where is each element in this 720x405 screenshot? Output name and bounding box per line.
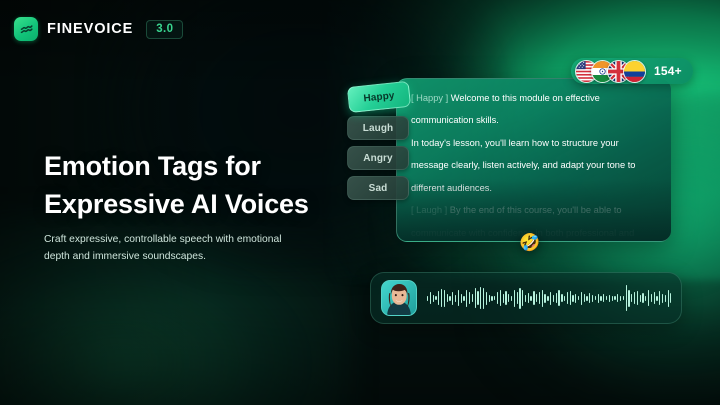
- waveform-bar: [463, 296, 464, 301]
- waveform-bar: [567, 292, 568, 304]
- waveform-bar: [595, 296, 596, 300]
- waveform-bar: [525, 295, 526, 302]
- waveform-bar: [651, 294, 652, 302]
- languages-count: 154+: [654, 64, 682, 78]
- waveform-bar: [503, 294, 504, 303]
- waveform-bar: [572, 295, 573, 302]
- waveform-bar: [542, 290, 543, 307]
- waveform-bar: [668, 290, 669, 307]
- waveform-bar: [486, 292, 487, 305]
- waveform-bar: [519, 288, 520, 309]
- waveform-bar: [472, 294, 473, 302]
- emotion-tag-happy[interactable]: Happy: [347, 81, 411, 113]
- waveform-bar: [438, 291, 439, 305]
- transcript-line: communication skills.: [411, 114, 657, 126]
- emotion-tag-label: Happy: [363, 90, 395, 104]
- brand-name: FINEVOICE: [47, 21, 133, 37]
- emotion-tag-label: Angry: [363, 153, 392, 164]
- flag-stack: [571, 60, 646, 83]
- waveform-bar: [494, 296, 495, 300]
- transcript-line: [ Happy ] Welcome to this module on effe…: [411, 92, 657, 104]
- waveform-bar: [623, 296, 624, 300]
- waveform-bar: [654, 292, 655, 304]
- waveform-bar: [528, 293, 529, 303]
- waveform-bar: [469, 292, 470, 304]
- waveform-bar: [547, 296, 548, 301]
- waveform-bar: [483, 288, 484, 309]
- waveform-bar: [491, 296, 492, 301]
- waveform-bar: [461, 294, 462, 303]
- finevoice-wave-logo-icon: [14, 17, 38, 41]
- waveform-bar: [612, 296, 613, 301]
- waveform-bar: [533, 291, 534, 305]
- waveform-bar: [592, 295, 593, 302]
- waveform-bar: [489, 295, 490, 302]
- laughing-emoji-icon: 🤣: [518, 230, 542, 254]
- transcript-line: different audiences.: [411, 182, 657, 194]
- waveform-bar: [575, 294, 576, 303]
- waveform-bar: [497, 292, 498, 304]
- waveform-bar: [449, 296, 450, 301]
- waveform-bar: [645, 296, 646, 301]
- emotion-tag-label: Sad: [369, 183, 388, 194]
- waveform-bar: [578, 296, 579, 300]
- transcript-line: In today's lesson, you'll learn how to s…: [411, 137, 657, 149]
- transcript-emotion-tag: [ Laugh ]: [411, 205, 447, 215]
- waveform-bar: [637, 291, 638, 305]
- speaker-avatar: [381, 280, 417, 316]
- audio-waveform[interactable]: [427, 283, 671, 313]
- waveform-bar: [631, 294, 632, 302]
- transcript-text: In today's lesson, you'll learn how to s…: [411, 138, 619, 148]
- emotion-tag-sad[interactable]: Sad: [347, 176, 409, 200]
- waveform-bar: [665, 295, 666, 302]
- waveform-bar: [539, 292, 540, 304]
- waveform-bar: [435, 296, 436, 300]
- waveform-bar: [589, 293, 590, 303]
- transcript-card[interactable]: [ Happy ] Welcome to this module on effe…: [396, 78, 671, 242]
- emotion-tag-label: Laugh: [363, 123, 394, 134]
- waveform-bar: [427, 296, 428, 301]
- hero-subcopy: Craft expressive, controllable speech wi…: [44, 232, 306, 265]
- waveform-bar: [586, 296, 587, 301]
- audio-player-card[interactable]: [370, 272, 682, 324]
- waveform-bar: [656, 296, 657, 301]
- version-badge: 3.0: [146, 20, 183, 39]
- transcript-text: communication skills.: [411, 115, 499, 125]
- waveform-bar: [458, 290, 459, 306]
- waveform-bar: [614, 296, 615, 300]
- waveform-bar: [517, 292, 518, 304]
- waveform-bar: [581, 292, 582, 305]
- waveform-bar: [514, 290, 515, 307]
- waveform-bar: [508, 294, 509, 302]
- promo-banner: FINEVOICE 3.0 Emotion Tags for Expressiv…: [0, 0, 720, 405]
- waveform-bar: [466, 290, 467, 307]
- waveform-bar: [544, 294, 545, 303]
- waveform-bar: [553, 295, 554, 302]
- waveform-bar: [558, 290, 559, 306]
- waveform-bar: [609, 295, 610, 302]
- transcript-line: [ Laugh ] By the end of this course, you…: [411, 204, 657, 216]
- transcript-text: message clearly, listen actively, and ad…: [411, 160, 635, 170]
- waveform-bar: [475, 288, 476, 308]
- transcript-line: message clearly, listen actively, and ad…: [411, 159, 657, 171]
- waveform-bar: [430, 292, 431, 304]
- waveform-bar: [561, 294, 562, 302]
- waveform-bar: [626, 285, 627, 311]
- transcript-body: [ Happy ] Welcome to this module on effe…: [397, 79, 671, 239]
- waveform-bar: [455, 295, 456, 302]
- waveform-bar: [477, 291, 478, 305]
- waveform-bar: [550, 292, 551, 305]
- waveform-bar: [444, 290, 445, 307]
- emotion-tag-laugh[interactable]: Laugh: [347, 116, 409, 140]
- transcript-text: By the end of this course, you'll be abl…: [447, 205, 621, 215]
- waveform-bar: [598, 294, 599, 303]
- waveform-bar: [659, 291, 660, 305]
- waveform-bar: [564, 296, 565, 301]
- waveform-bar: [634, 292, 635, 304]
- waveform-bar: [600, 296, 601, 301]
- waveform-bar: [441, 289, 442, 307]
- page-title: Emotion Tags for Expressive AI Voices: [44, 148, 374, 224]
- transcript-text: Welcome to this module on effective: [448, 93, 600, 103]
- waveform-bar: [447, 294, 448, 302]
- waveform-bar: [433, 295, 434, 302]
- waveform-bar: [628, 290, 629, 307]
- waveform-bar: [603, 294, 604, 302]
- waveform-bar: [642, 293, 643, 303]
- waveform-bar: [606, 296, 607, 300]
- waveform-bar: [670, 293, 671, 303]
- waveform-bar: [505, 291, 506, 305]
- waveform-bar: [662, 294, 663, 303]
- emotion-tag-angry[interactable]: Angry: [347, 146, 409, 170]
- waveform-bar: [452, 292, 453, 305]
- waveform-bar: [536, 294, 537, 302]
- waveform-bar: [511, 296, 512, 301]
- waveform-bar: [556, 293, 557, 303]
- waveform-bar: [640, 295, 641, 302]
- waveform-bar: [584, 294, 585, 302]
- languages-badge[interactable]: 154+: [571, 58, 693, 84]
- waveform-bar: [570, 291, 571, 305]
- brand-header: FINEVOICE 3.0: [14, 17, 183, 41]
- waveform-bar: [522, 290, 523, 306]
- emotion-tag-list: Happy Laugh Angry Sad: [347, 84, 409, 200]
- waveform-bar: [617, 294, 618, 302]
- flag-co-icon: [623, 60, 646, 83]
- waveform-bar: [480, 287, 481, 309]
- transcript-emotion-tag: [ Happy ]: [411, 93, 448, 103]
- transcript-text: different audiences.: [411, 183, 492, 193]
- waveform-bar: [620, 296, 621, 301]
- waveform-bar: [500, 290, 501, 306]
- waveform-bar: [530, 296, 531, 301]
- waveform-bar: [648, 290, 649, 306]
